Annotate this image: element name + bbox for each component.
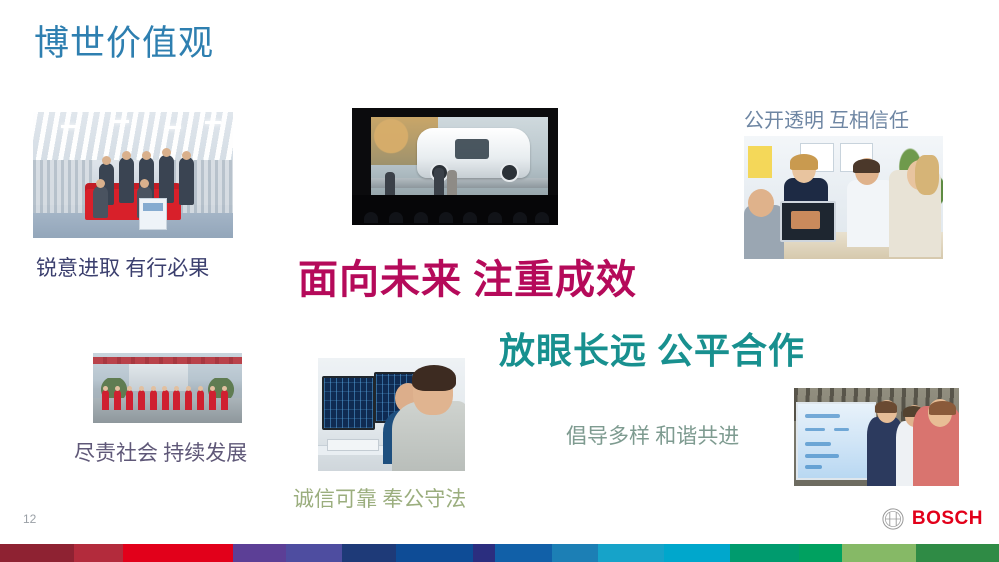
bosch-wordmark: BOSCH [912, 508, 983, 530]
color-bar-segment-12 [730, 544, 799, 562]
footer-color-bar [0, 544, 999, 562]
color-bar-segment-0 [0, 544, 74, 562]
color-bar-segment-13 [799, 544, 842, 562]
volunteer-group-photo [93, 353, 242, 423]
slide-canvas: 博世价值观 [0, 0, 999, 562]
page-title: 博世价值观 [34, 22, 214, 66]
color-bar-segment-7 [473, 544, 495, 562]
color-bar-segment-4 [286, 544, 342, 562]
factory-team-photo [33, 112, 233, 238]
conference-stage-photo [352, 108, 558, 225]
color-bar-segment-3 [233, 544, 286, 562]
bosch-logo: BOSCH [882, 508, 983, 530]
color-bar-segment-15 [916, 544, 999, 562]
color-bar-segment-8 [495, 544, 552, 562]
page-number: 12 [23, 512, 36, 526]
value-caption-future: 面向未来 注重成效 [298, 247, 637, 305]
value-caption-diversity: 倡导多样 和谐共进 [566, 420, 739, 450]
color-bar-segment-5 [342, 544, 396, 562]
value-caption-fairness: 放眼长远 公平合作 [499, 322, 805, 374]
color-bar-segment-2 [123, 544, 233, 562]
color-bar-segment-1 [74, 544, 123, 562]
digital-board-photo [794, 388, 959, 486]
color-bar-segment-10 [598, 544, 664, 562]
value-caption-innovation: 锐意进取 有行必果 [36, 252, 209, 282]
office-meeting-photo [744, 136, 943, 259]
color-bar-segment-14 [842, 544, 916, 562]
value-caption-trust: 公开透明 互相信任 [744, 104, 909, 133]
color-bar-segment-6 [396, 544, 474, 562]
color-bar-segment-9 [552, 544, 598, 562]
color-bar-segment-11 [664, 544, 730, 562]
engineers-workstation-photo [318, 358, 465, 471]
bosch-armature-icon [882, 508, 904, 530]
value-caption-society: 尽责社会 持续发展 [74, 437, 247, 467]
value-caption-integrity: 诚信可靠 奉公守法 [293, 483, 466, 513]
